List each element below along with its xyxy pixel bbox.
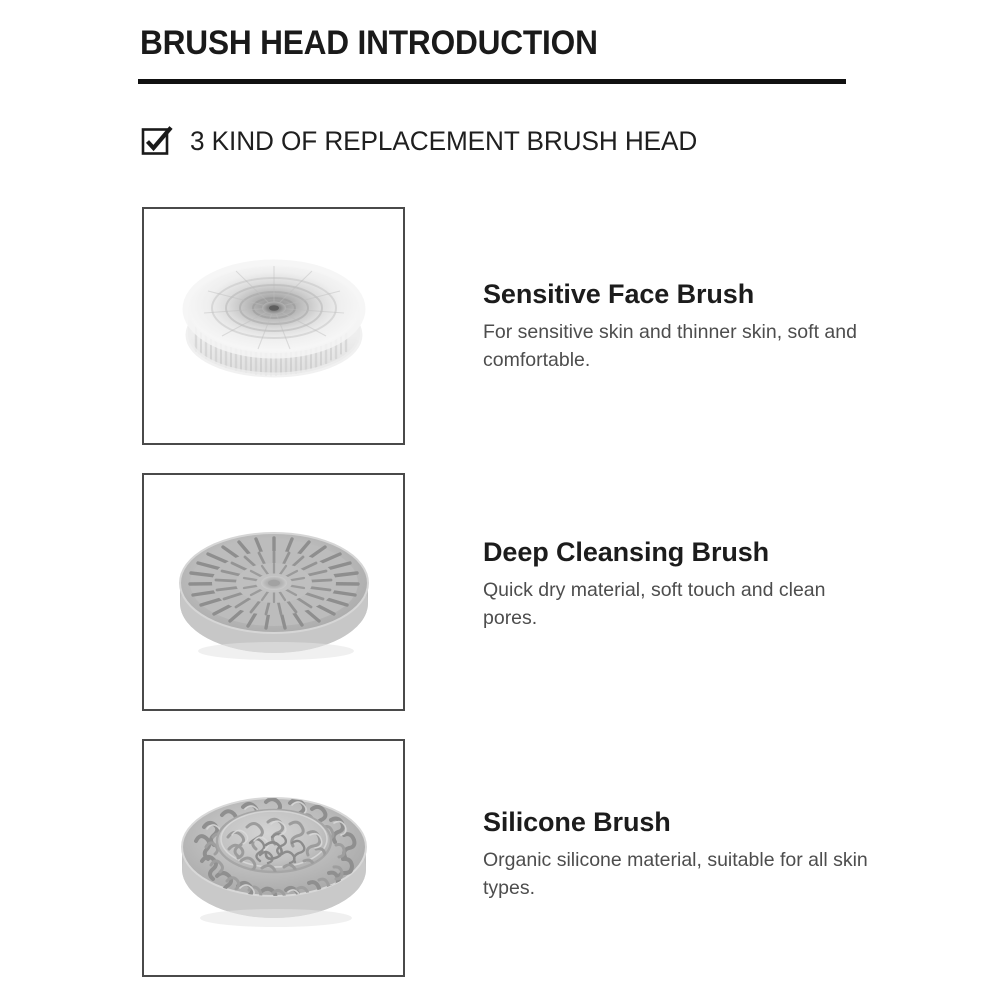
subheading-label: 3 KIND OF REPLACEMENT BRUSH HEAD: [190, 126, 697, 157]
product-title: Silicone Brush: [483, 807, 903, 838]
product-text: Silicone Brush Organic silicone material…: [483, 807, 903, 902]
sensitive-face-brush-image: [142, 207, 405, 445]
product-text: Sensitive Face Brush For sensitive skin …: [483, 279, 903, 374]
checkbox-checked-icon: [140, 124, 174, 158]
silicone-brush-image: [142, 739, 405, 977]
page-title: BRUSH HEAD INTRODUCTION: [140, 24, 598, 63]
subheading: 3 KIND OF REPLACEMENT BRUSH HEAD: [140, 120, 713, 162]
product-title: Sensitive Face Brush: [483, 279, 903, 310]
product-description: For sensitive skin and thinner skin, sof…: [483, 319, 883, 374]
product-text: Deep Cleansing Brush Quick dry material,…: [483, 537, 903, 632]
product-description: Organic silicone material, suitable for …: [483, 847, 883, 902]
product-description: Quick dry material, soft touch and clean…: [483, 577, 883, 632]
title-divider: [138, 79, 846, 84]
infographic-page: BRUSH HEAD INTRODUCTION 3 KIND OF REPLAC…: [0, 0, 1000, 1000]
product-title: Deep Cleansing Brush: [483, 537, 903, 568]
deep-cleansing-brush-image: [142, 473, 405, 711]
